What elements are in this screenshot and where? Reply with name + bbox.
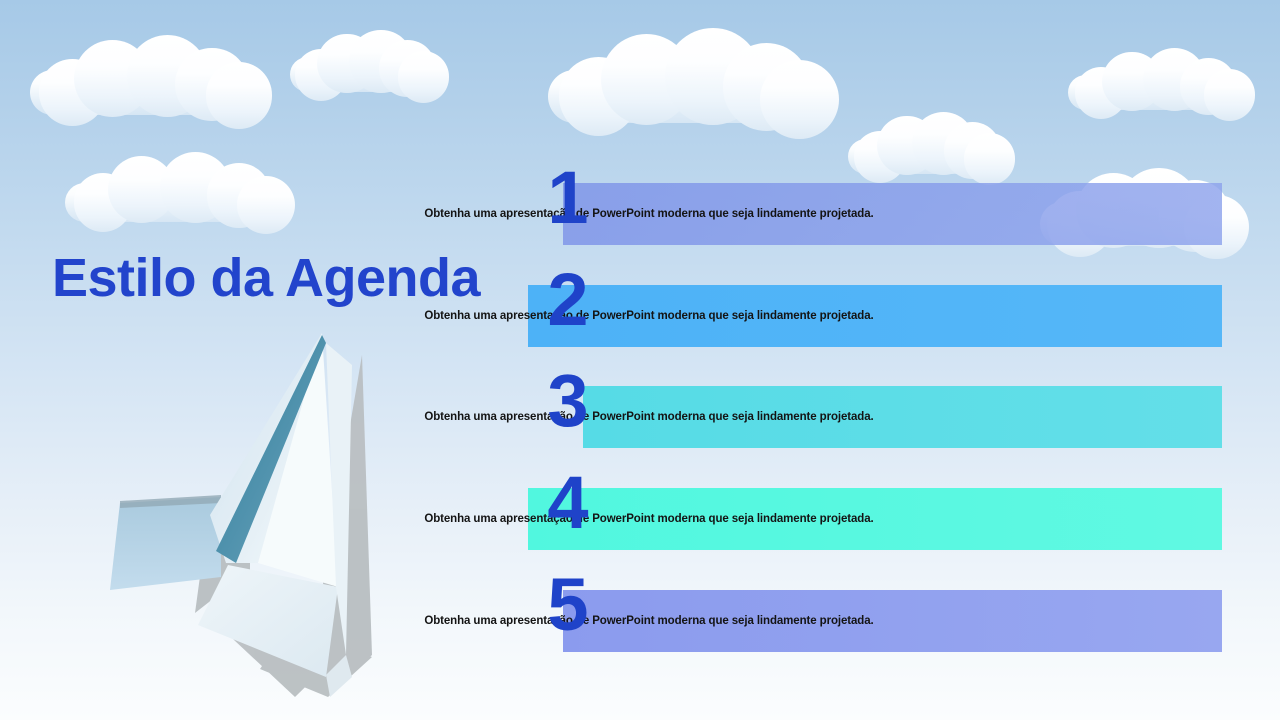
agenda-item-number: 2 (532, 263, 602, 337)
agenda-item-number: 5 (532, 568, 602, 642)
agenda-item[interactable]: Obtenha uma apresentação de PowerPoint m… (0, 183, 1280, 245)
agenda-item[interactable]: Obtenha uma apresentação de PowerPoint m… (0, 590, 1280, 652)
agenda-item[interactable]: Obtenha uma apresentação de PowerPoint m… (0, 386, 1280, 448)
slide-canvas: Estilo da Agenda (0, 0, 1280, 720)
agenda-item-number: 1 (532, 161, 602, 235)
agenda-list: Obtenha uma apresentação de PowerPoint m… (0, 0, 1280, 720)
agenda-item-text: Obtenha uma apresentação de PowerPoint m… (76, 590, 1222, 652)
agenda-item-number: 4 (532, 466, 602, 540)
agenda-item[interactable]: Obtenha uma apresentação de PowerPoint m… (0, 488, 1280, 550)
agenda-item-number: 3 (532, 364, 602, 438)
agenda-item-text: Obtenha uma apresentação de PowerPoint m… (76, 488, 1222, 550)
agenda-item-text: Obtenha uma apresentação de PowerPoint m… (76, 183, 1222, 245)
agenda-item-text: Obtenha uma apresentação de PowerPoint m… (76, 285, 1222, 347)
agenda-item-text: Obtenha uma apresentação de PowerPoint m… (76, 386, 1222, 448)
agenda-item[interactable]: Obtenha uma apresentação de PowerPoint m… (0, 285, 1280, 347)
